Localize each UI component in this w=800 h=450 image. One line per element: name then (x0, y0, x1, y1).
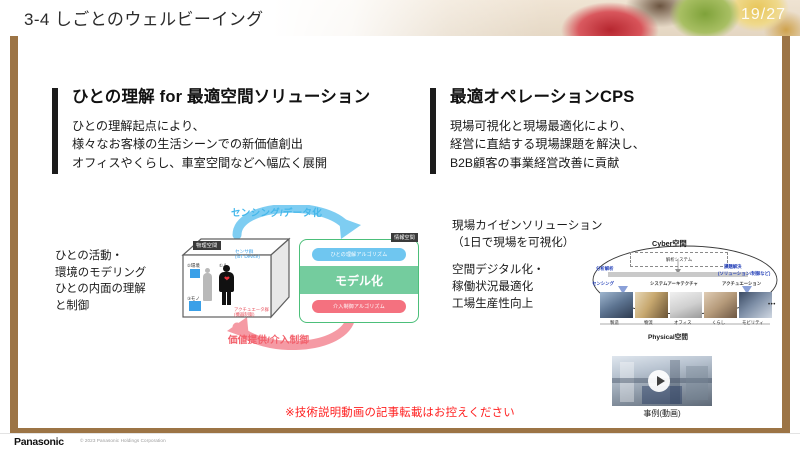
problem-solving-label-1: 課題解決 (724, 264, 742, 270)
copyright-text: © 2023 Panasonic Holdings Corporation (80, 438, 166, 443)
left-body-line-1: ひとの理解起点により、 (72, 117, 412, 136)
sensor-group-label: センサ群 (IoT Device) (235, 249, 260, 260)
right-caption-a: 現場カイゼンソリューション （1日で現場を可視化） (452, 218, 603, 252)
page-title: 3-4 しごとのウェルビーイング (24, 5, 264, 30)
left-section-headline: ひとの理解 for 最適空間ソリューション ひとの理解起点により、 様々なお客様… (52, 88, 412, 172)
domain-label-logistics: 物流 (644, 320, 653, 326)
reprint-notice: ※技術説明動画の記事転載はお控えください (0, 404, 800, 420)
left-body-line-3: オフィスやくらし、車室空間などへ幅広く展開 (72, 154, 412, 173)
domain-thumb-manufacturing (600, 292, 633, 318)
sensing-control-cycle-diagram: センシング/データ化 価値提供/介入制御 物理空間 ②環境 ③モノ ①人 ❤ セ… (175, 205, 425, 350)
domain-label-living: くらし (712, 320, 725, 326)
actuator-group-label: アクチュエータ群 (機器制御) (234, 307, 269, 317)
cycle-top-arrow-label: センシング/データ化 (231, 205, 322, 219)
right-caption-b-line-3: 工場生産性向上 (452, 296, 545, 313)
right-caption-b-line-1: 空間デジタル化・ (452, 262, 545, 279)
left-caption-line-3: ひとの内面の理解 (55, 281, 175, 298)
domain-labels: 製造 物流 オフィス くらし モビリティ (600, 320, 780, 328)
environment-square-icon (190, 269, 200, 278)
panasonic-logo: Panasonic (14, 436, 64, 448)
left-diagram-caption: ひとの活動・ 環境のモデリング ひとの内面の理解 と制御 (55, 248, 175, 314)
right-body-line-3: B2B顧客の事業経営改善に貢献 (450, 154, 760, 173)
right-heading: 最適オペレーションCPS (450, 88, 760, 108)
information-space-tag: 情報空間 (391, 233, 418, 242)
left-caption-line-1: ひとの活動・ (55, 248, 175, 265)
right-accent-bar (430, 88, 436, 174)
right-caption-b-line-2: 稼働状況最適化 (452, 279, 545, 296)
room-label-environment: ②環境 (187, 263, 200, 269)
room-tag-label: 物理空間 (193, 241, 221, 250)
model-box: ひとの理解アルゴリズム モデル化 介入制御アルゴリズム (299, 239, 419, 323)
domain-thumbnail-strip (600, 292, 772, 318)
right-section-headline: 最適オペレーションCPS 現場可視化と現場最適化により、 経営に直結する現場課題… (430, 88, 760, 172)
left-caption-line-4: と制御 (55, 298, 175, 315)
cyber-space-label: Cyber空間 (652, 239, 687, 249)
play-icon[interactable] (648, 370, 670, 392)
left-body-line-2: 様々なお客様の生活シーンでの新価値創出 (72, 135, 412, 154)
domain-thumb-living (704, 292, 737, 318)
left-heading: ひとの理解 for 最適空間ソリューション (72, 88, 412, 108)
domain-label-mobility: モビリティ (742, 320, 764, 326)
right-caption-a-line-1: 現場カイゼンソリューション (452, 218, 603, 235)
secondary-person-silhouette (203, 273, 212, 301)
domain-thumb-office (670, 292, 703, 318)
frame-border-right (782, 36, 790, 432)
slide-header: 3-4 しごとのウェルビーイング 19/27 (0, 0, 800, 36)
actuation-label: アクチュエーション (722, 281, 761, 287)
intervention-algorithm-chip: 介入制御アルゴリズム (312, 300, 406, 313)
domain-thumb-logistics (635, 292, 668, 318)
room-label-thing: ③モノ (187, 296, 200, 302)
right-body-line-1: 現場可視化と現場最適化により、 (450, 117, 760, 136)
heart-icon: ❤ (224, 277, 230, 283)
right-body-line-2: 経営に直結する現場課題を解決し、 (450, 135, 760, 154)
cyber-physical-system-diagram: Cyber空間 解析システム 分析解析 センシング システムアーキテクチャ 課題… (592, 236, 778, 344)
system-architecture-label: システムアーキテクチャ (650, 281, 698, 287)
left-caption-line-2: 環境のモデリング (55, 265, 175, 282)
sensing-label: センシング (592, 281, 614, 287)
person-silhouette: ❤ (219, 265, 234, 305)
left-body: ひとの理解起点により、 様々なお客様の生活シーンでの新価値創出 オフィスやくらし… (72, 117, 412, 173)
slide: 3-4 しごとのウェルビーイング 19/27 ひとの理解 for 最適空間ソリュ… (0, 0, 800, 450)
cycle-bottom-arrow-label: 価値提供/介入制御 (228, 332, 309, 346)
right-caption-b: 空間デジタル化・ 稼働状況最適化 工場生産性向上 (452, 262, 545, 312)
right-caption-a-line-2: （1日で現場を可視化） (452, 235, 603, 252)
physical-space-label: Physical空間 (648, 331, 688, 341)
physical-space-room-illustration: 物理空間 ②環境 ③モノ ①人 ❤ センサ群 (IoT Device) アクチュ… (179, 233, 291, 325)
analysis-label: 分析解析 (596, 266, 614, 272)
understanding-algorithm-chip: ひとの理解アルゴリズム (312, 248, 406, 261)
modeling-label: モデル化 (300, 266, 418, 294)
thing-square-icon (189, 301, 201, 311)
more-domains-ellipsis: ••• (768, 302, 776, 308)
frame-border-left (10, 36, 18, 432)
domain-label-office: オフィス (674, 320, 691, 326)
left-accent-bar (52, 88, 58, 174)
problem-solving-label-2: (ソリューション/制御など) (718, 271, 770, 277)
video-thumbnail[interactable] (612, 356, 712, 406)
analysis-system-box: 解析システム (630, 252, 728, 267)
right-body: 現場可視化と現場最適化により、 経営に直結する現場課題を解決し、 B2B顧客の事… (450, 117, 760, 173)
page-number: 19/27 (741, 6, 786, 24)
domain-label-manufacturing: 製造 (610, 320, 619, 326)
